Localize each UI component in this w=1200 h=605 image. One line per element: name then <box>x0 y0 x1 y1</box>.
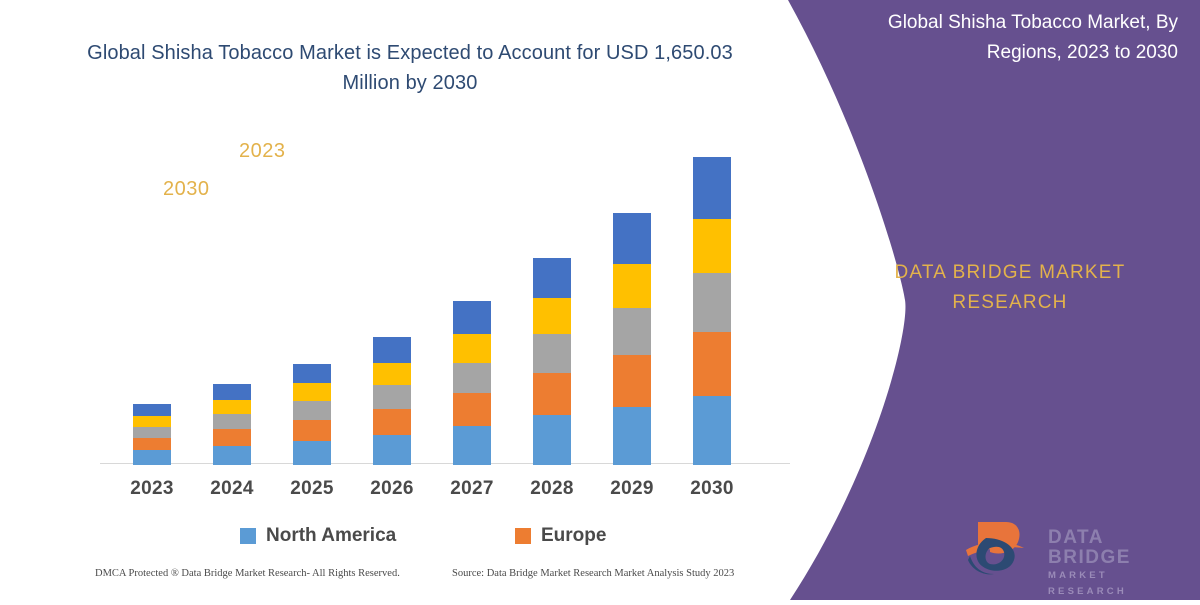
bar-group-2026 <box>373 337 411 465</box>
chart-panel: Global Shisha Tobacco Market is Expected… <box>0 0 800 600</box>
bar-segment <box>693 396 731 465</box>
legend-item[interactable]: North America <box>240 525 396 547</box>
bar-segment <box>213 384 251 400</box>
x-axis-labels: 20232024202520262027202820292030 <box>100 478 780 508</box>
x-axis-label-2030: 2030 <box>672 478 752 500</box>
panel-title: Global Shisha Tobacco Market, By Regions… <box>848 8 1178 68</box>
bar-segment <box>693 157 731 219</box>
chart-legend: North AmericaEurope <box>100 525 780 559</box>
bar-segment <box>293 441 331 465</box>
x-axis-label-2024: 2024 <box>192 478 272 500</box>
bar-segment <box>373 337 411 362</box>
bar-group-2029 <box>613 213 651 465</box>
x-axis-label-2023: 2023 <box>112 478 192 500</box>
footer-source: Source: Data Bridge Market Research Mark… <box>452 568 734 579</box>
logo-sub-text: MARKET RESEARCH <box>1048 568 1190 600</box>
bar-segment <box>613 213 651 264</box>
bar-segment <box>293 401 331 420</box>
brand-name: DATA BRIDGE MARKET RESEARCH <box>840 258 1180 318</box>
bar-segment <box>533 373 571 415</box>
legend-item[interactable]: Europe <box>515 525 606 547</box>
bar-segment <box>613 355 651 407</box>
bar-segment <box>533 334 571 373</box>
legend-swatch <box>240 528 256 544</box>
bar-segment <box>693 273 731 331</box>
bar-group-2027 <box>453 301 491 465</box>
bar-group-2024 <box>213 384 251 465</box>
bar-segment <box>213 400 251 414</box>
company-logo: DATA BRIDGE MARKET RESEARCH <box>960 516 1190 578</box>
bar-segment <box>613 308 651 355</box>
bar-segment <box>693 332 731 396</box>
chart-title: Global Shisha Tobacco Market is Expected… <box>80 38 740 98</box>
bar-segment <box>373 435 411 465</box>
footer-copyright: DMCA Protected ® Data Bridge Market Rese… <box>95 568 400 579</box>
bar-group-2025 <box>293 364 331 465</box>
db-monogram-icon <box>960 516 1046 578</box>
bar-segment <box>133 404 171 416</box>
bar-segment <box>453 393 491 426</box>
logo-main-text: DATA BRIDGE <box>1048 528 1190 568</box>
x-axis-label-2029: 2029 <box>592 478 672 500</box>
bar-segment <box>373 409 411 435</box>
legend-label: North America <box>266 525 396 547</box>
bar-group-2023 <box>133 404 171 465</box>
bar-segment <box>533 298 571 335</box>
bar-segment <box>453 426 491 465</box>
bar-segment <box>693 219 731 273</box>
bar-segment <box>373 363 411 386</box>
bar-segment <box>453 301 491 334</box>
x-axis-label-2027: 2027 <box>432 478 512 500</box>
bar-segment <box>133 450 171 465</box>
x-axis-label-2028: 2028 <box>512 478 592 500</box>
bar-segment <box>133 427 171 438</box>
bar-segment <box>133 438 171 450</box>
bar-group-2028 <box>533 258 571 466</box>
bar-group-2030 <box>693 157 731 465</box>
footer: DMCA Protected ® Data Bridge Market Rese… <box>0 568 800 588</box>
x-axis-label-2025: 2025 <box>272 478 352 500</box>
bar-segment <box>453 363 491 393</box>
bar-segment <box>213 414 251 429</box>
bar-segment <box>533 415 571 465</box>
bar-segment <box>293 420 331 441</box>
bar-segment <box>533 258 571 298</box>
bar-segment <box>293 364 331 384</box>
chart-plot-area <box>100 140 780 465</box>
x-axis-label-2026: 2026 <box>352 478 432 500</box>
bar-segment <box>613 264 651 308</box>
bar-segment <box>293 383 331 401</box>
legend-swatch <box>515 528 531 544</box>
bar-segment <box>213 446 251 465</box>
bar-segment <box>133 416 171 426</box>
bar-segment <box>453 334 491 363</box>
logo-text: DATA BRIDGE MARKET RESEARCH <box>1048 528 1190 600</box>
bar-segment <box>373 385 411 408</box>
bar-segment <box>613 407 651 465</box>
bar-segment <box>213 429 251 446</box>
bar-series-container <box>100 140 780 465</box>
legend-label: Europe <box>541 525 606 547</box>
